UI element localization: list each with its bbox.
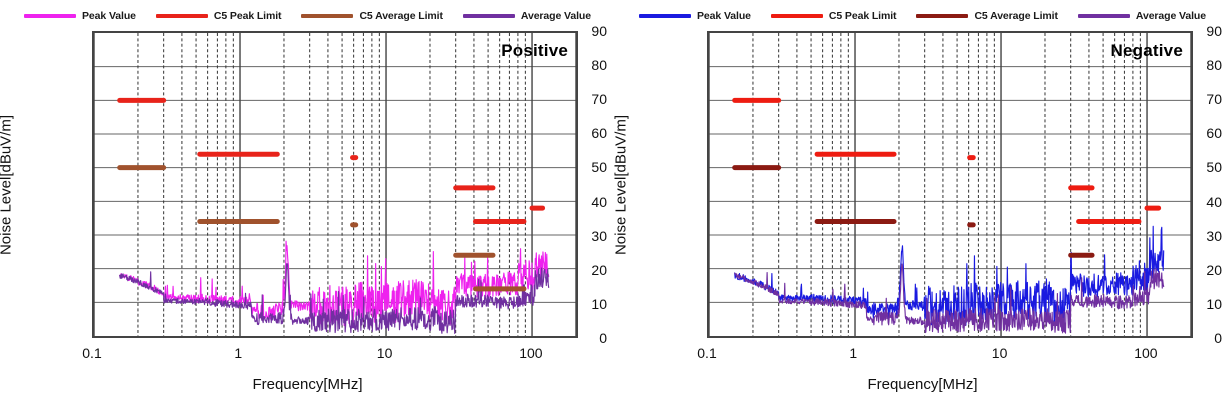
x-tick-1: 1: [849, 345, 857, 361]
x-tick-100: 100: [1134, 345, 1157, 361]
polarity-label-positive: Positive: [501, 41, 568, 61]
legend-label-c5-average-limit: C5 Average Limit: [974, 10, 1057, 22]
legend-item-average-value: Average Value: [463, 10, 591, 22]
y-axis-label: Noise Level[dBuV/m]: [613, 35, 630, 335]
chart-panel-negative: Peak Value C5 Peak Limit C5 Average Limi…: [615, 0, 1230, 420]
x-tick-0-1: 0.1: [82, 345, 101, 361]
legend-positive: Peak Value C5 Peak Limit C5 Average Limi…: [0, 5, 615, 27]
legend-swatch-c5-peak-limit: [771, 14, 823, 18]
plot-area-negative: Negative: [707, 31, 1193, 338]
legend-swatch-c5-peak-limit: [156, 14, 208, 18]
x-tick-10: 10: [992, 345, 1008, 361]
plot-area-positive: Positive: [92, 31, 578, 338]
legend-swatch-c5-average-limit: [301, 14, 353, 18]
polarity-label-negative: Negative: [1111, 41, 1183, 61]
legend-swatch-average-value: [1078, 14, 1130, 18]
legend-label-peak-value: Peak Value: [697, 10, 751, 22]
legend-item-peak-value: Peak Value: [639, 10, 751, 22]
legend-item-peak-value: Peak Value: [24, 10, 136, 22]
x-tick-100: 100: [519, 345, 542, 361]
legend-item-c5-peak-limit: C5 Peak Limit: [771, 10, 897, 22]
x-axis-label: Frequency[MHz]: [615, 376, 1230, 393]
x-tick-0-1: 0.1: [697, 345, 716, 361]
legend-swatch-peak-value: [24, 14, 76, 18]
y-axis-label: Noise Level[dBuV/m]: [0, 35, 15, 335]
legend-swatch-c5-average-limit: [916, 14, 968, 18]
legend-swatch-peak-value: [639, 14, 691, 18]
legend-item-c5-average-limit: C5 Average Limit: [301, 10, 442, 22]
legend-label-c5-peak-limit: C5 Peak Limit: [829, 10, 897, 22]
legend-swatch-average-value: [463, 14, 515, 18]
legend-item-average-value: Average Value: [1078, 10, 1206, 22]
legend-label-average-value: Average Value: [1136, 10, 1206, 22]
legend-label-c5-average-limit: C5 Average Limit: [359, 10, 442, 22]
chart-panel-positive: Peak Value C5 Peak Limit C5 Average Limi…: [0, 0, 615, 420]
legend-label-c5-peak-limit: C5 Peak Limit: [214, 10, 282, 22]
legend-negative: Peak Value C5 Peak Limit C5 Average Limi…: [615, 5, 1230, 27]
legend-item-c5-average-limit: C5 Average Limit: [916, 10, 1057, 22]
x-axis-label: Frequency[MHz]: [0, 376, 615, 393]
x-tick-1: 1: [234, 345, 242, 361]
x-tick-10: 10: [377, 345, 393, 361]
emc-noise-figure: Peak Value C5 Peak Limit C5 Average Limi…: [0, 0, 1230, 420]
legend-label-average-value: Average Value: [521, 10, 591, 22]
legend-label-peak-value: Peak Value: [82, 10, 136, 22]
legend-item-c5-peak-limit: C5 Peak Limit: [156, 10, 282, 22]
